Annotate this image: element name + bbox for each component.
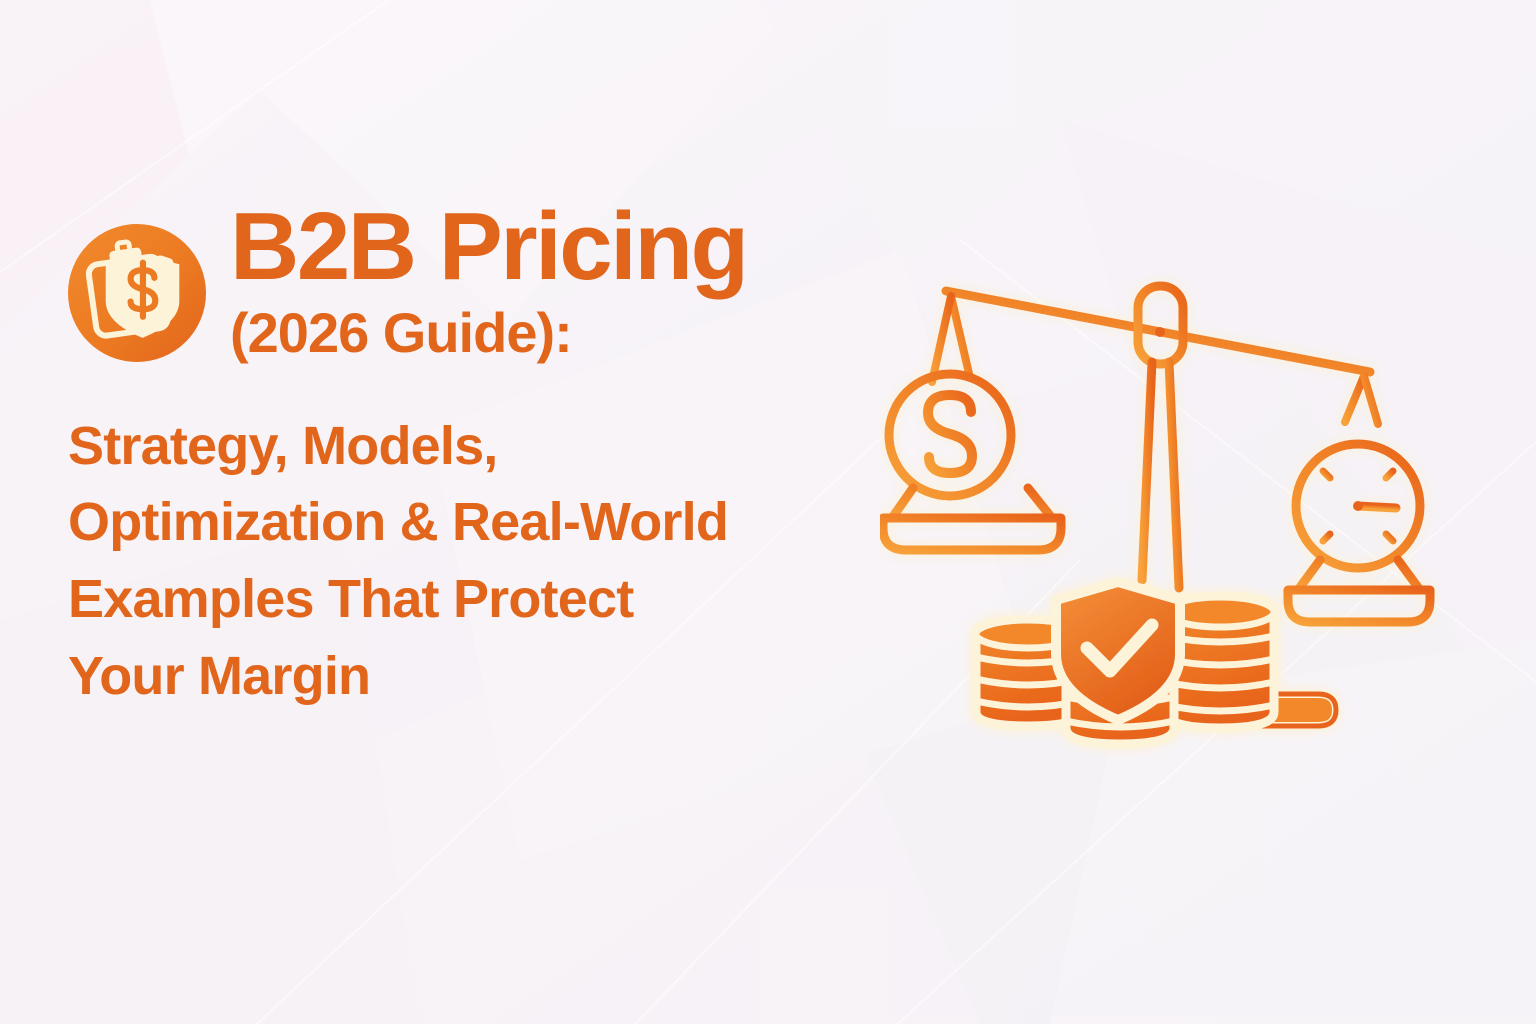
left-pan-hanger-icon (932, 296, 970, 382)
page-subtitle-parenthetical: (2026 Guide): (230, 302, 747, 364)
title-row: B2B Pricing (2026 Guide): (68, 200, 898, 364)
title-texts: B2B Pricing (2026 Guide): (230, 200, 747, 364)
subtitle-line-4: Your Margin (68, 638, 898, 715)
clipboard-shield-dollar-icon (68, 224, 206, 362)
shield-check-icon (1056, 582, 1180, 720)
subtitle-line-1: Strategy, Models, (68, 408, 898, 485)
subtitle-block: Strategy, Models, Optimization & Real-Wo… (68, 408, 898, 715)
pivot-dot-icon (1155, 327, 1165, 337)
left-pan-icon (883, 488, 1061, 550)
logo-badge (68, 224, 206, 362)
subtitle-line-3: Examples That Protect (68, 561, 898, 638)
page-title: B2B Pricing (230, 200, 747, 294)
subtitle-line-2: Optimization & Real-World (68, 484, 898, 561)
right-pan-hanger-icon (1345, 376, 1378, 424)
banner-canvas: B2B Pricing (2026 Guide): Strategy, Mode… (0, 0, 1536, 1024)
balance-scale-graphic (880, 250, 1440, 770)
dollar-coin-icon (889, 374, 1011, 496)
clock-icon (1296, 444, 1420, 568)
illustration-balance-scale (880, 250, 1440, 770)
hero-text-block: B2B Pricing (2026 Guide): Strategy, Mode… (68, 200, 898, 714)
